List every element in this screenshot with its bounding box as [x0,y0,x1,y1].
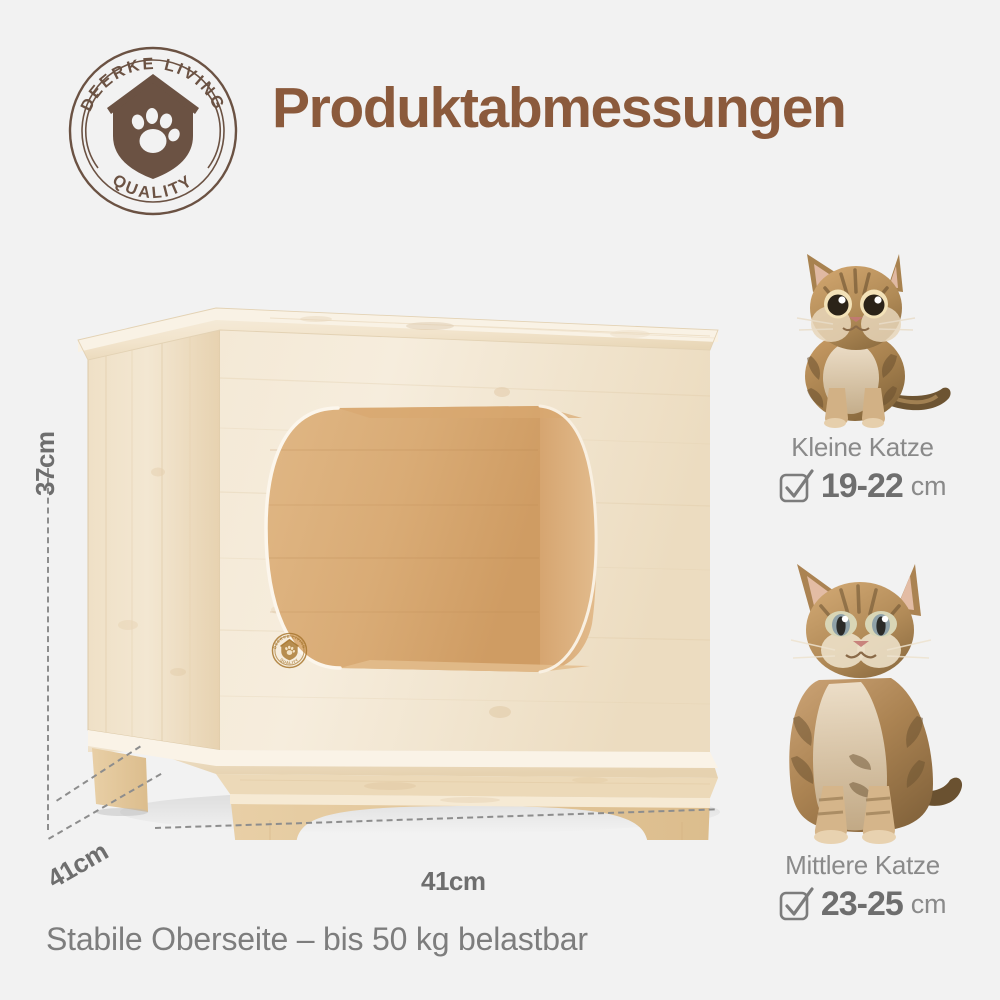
brand-badge-logo: DEERKE LIVING QUALITY [58,36,248,226]
cat-name-small: Kleine Katze [735,432,990,463]
page-title: Produktabmessungen [272,78,952,138]
cat-size-value-medium: 23-25 [821,885,903,924]
cat-size-row-small: 19-22 cm [735,467,990,506]
footer-caption: Stabile Oberseite – bis 50 kg belastbar [46,921,588,958]
checkbox-checked-icon[interactable] [779,470,813,504]
cat-size-block-medium: Mittlere Katze 23-25 cm [735,548,990,924]
dimension-label-width: 41cm [421,866,486,897]
cat-size-value-small: 19-22 [821,467,903,506]
cat-name-medium: Mittlere Katze [735,850,990,881]
cat-size-unit-small: cm [911,471,946,502]
infographic-canvas: DEERKE LIVING QUALITY Produktabmessungen [0,0,1000,1000]
cat-size-row-medium: 23-25 cm [735,885,990,924]
cat-size-block-small: Kleine Katze 19-22 cm [735,238,990,506]
checkbox-checked-icon[interactable] [779,888,813,922]
product-image-cat-house: DEERKE LIVING QUALITY [70,300,730,840]
house-paw-icon [107,74,199,179]
dimension-label-depth: 41cm [42,836,113,895]
dimension-line-height [47,468,49,830]
adult-cat-sitting-photo [735,548,990,848]
dimension-label-height: 37cm [30,432,61,497]
cat-size-unit-medium: cm [911,889,946,920]
kitten-sitting-photo [735,238,990,430]
